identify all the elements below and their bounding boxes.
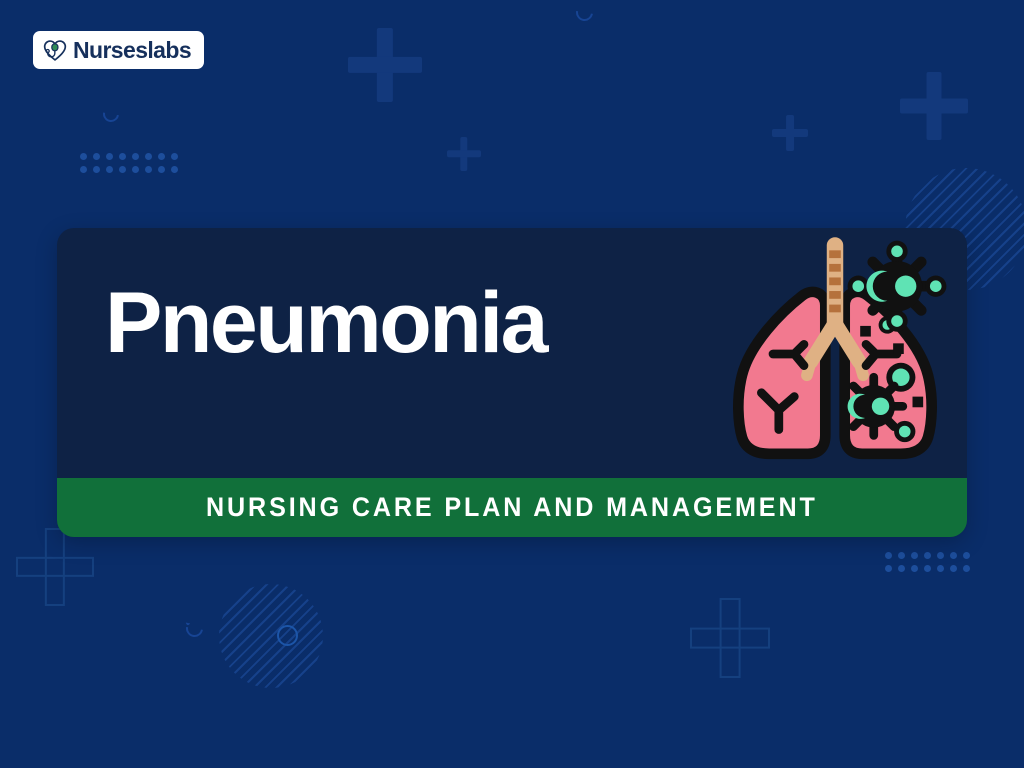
ring-bottom-left-icon <box>277 625 298 646</box>
title-card: Pneumonia <box>57 228 967 537</box>
hatched-circle-bottom-left-icon <box>219 584 323 688</box>
plus-solid-top-center-icon <box>772 115 808 151</box>
title-card-body: Pneumonia <box>57 228 967 478</box>
infected-lungs-icon <box>711 230 959 478</box>
plus-outline-bottom-left-icon <box>16 528 94 606</box>
page-title: Pneumonia <box>105 280 546 366</box>
crescent-top-center-icon <box>573 1 597 25</box>
plus-small-top-mid-icon <box>447 137 481 171</box>
crescent-bottom-left-icon <box>183 617 207 641</box>
crescent-left-upper-icon <box>100 103 122 125</box>
dot-grid-bottom-right-icon <box>885 552 970 572</box>
subtitle-banner: Nursing Care Plan and Management <box>57 478 967 537</box>
dot-grid-top-left-icon <box>80 153 178 173</box>
brand-wordmark: Nurseslabs <box>73 39 191 62</box>
plus-solid-top-left-icon <box>348 28 422 102</box>
brand-logo[interactable]: Nurseslabs <box>33 31 204 69</box>
plus-outline-bottom-center-icon <box>690 598 770 678</box>
subtitle-banner-label: Nursing Care Plan and Management <box>206 492 818 523</box>
poster-canvas: Nurseslabs Pneumonia <box>0 0 1024 768</box>
heart-stethoscope-icon <box>42 37 68 63</box>
plus-solid-top-right-icon <box>900 72 968 140</box>
crescent-bottom-right-icon <box>185 620 191 626</box>
